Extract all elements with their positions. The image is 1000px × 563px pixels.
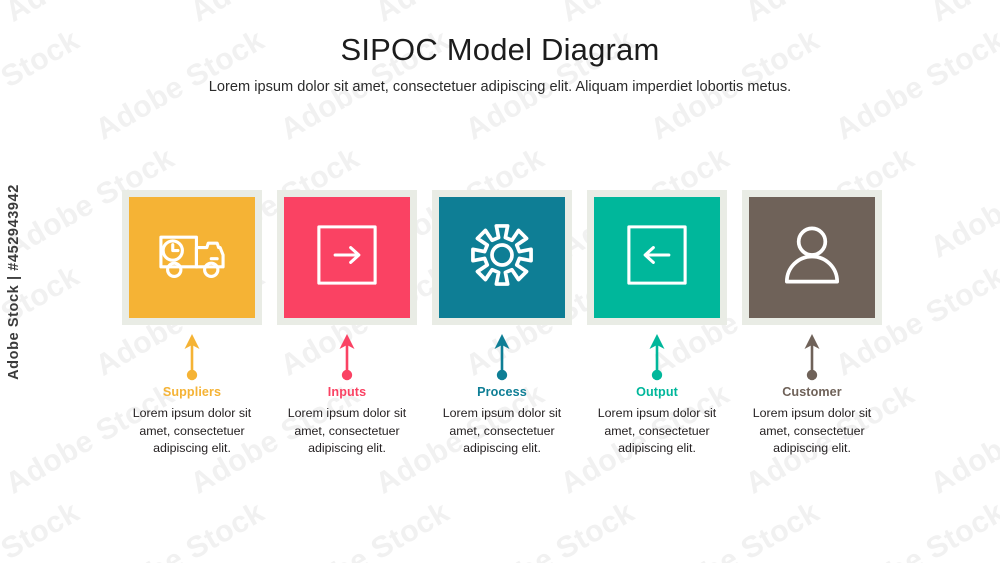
step-card-frame[interactable] <box>122 190 262 325</box>
diagram-canvas: Adobe Stock | #452943942 SIPOC Model Dia… <box>0 0 1000 563</box>
step-label: Process <box>477 385 527 400</box>
step-connector-arrow-up-icon <box>335 334 359 382</box>
step-label: Output <box>636 385 678 400</box>
step-connector-arrow-up-icon <box>180 334 204 382</box>
sipoc-steps-row: SuppliersLorem ipsum dolor sit amet, con… <box>122 190 882 458</box>
step-card-fill <box>439 197 565 318</box>
step-card-frame[interactable] <box>742 190 882 325</box>
page-title: SIPOC Model Diagram <box>0 32 1000 68</box>
step-card-fill <box>594 197 720 318</box>
step-card-frame[interactable] <box>432 190 572 325</box>
gear-icon <box>465 218 539 297</box>
sipoc-step-inputs[interactable]: InputsLorem ipsum dolor sit amet, consec… <box>277 190 417 458</box>
step-card-fill <box>749 197 875 318</box>
step-label: Customer <box>782 385 842 400</box>
page-subtitle: Lorem ipsum dolor sit amet, consectetuer… <box>175 77 825 98</box>
step-card-fill <box>129 197 255 318</box>
sipoc-step-process[interactable]: ProcessLorem ipsum dolor sit amet, conse… <box>432 190 572 458</box>
step-connector-arrow-up-icon <box>645 334 669 382</box>
step-card-fill <box>284 197 410 318</box>
delivery-truck-clock-icon <box>155 218 229 297</box>
sipoc-step-output[interactable]: OutputLorem ipsum dolor sit amet, consec… <box>587 190 727 458</box>
adobe-stock-watermark-label: Adobe Stock | #452943942 <box>6 184 22 380</box>
step-card-frame[interactable] <box>587 190 727 325</box>
arrow-right-in-square-icon <box>310 218 384 297</box>
user-person-icon <box>775 218 849 297</box>
sipoc-step-customer[interactable]: CustomerLorem ipsum dolor sit amet, cons… <box>742 190 882 458</box>
step-description: Lorem ipsum dolor sit amet, consectetuer… <box>586 405 728 458</box>
sipoc-step-suppliers[interactable]: SuppliersLorem ipsum dolor sit amet, con… <box>122 190 262 458</box>
step-connector-arrow-up-icon <box>800 334 824 382</box>
arrow-left-in-square-icon <box>620 218 694 297</box>
step-label: Suppliers <box>163 385 221 400</box>
step-description: Lorem ipsum dolor sit amet, consectetuer… <box>431 405 573 458</box>
step-description: Lorem ipsum dolor sit amet, consectetuer… <box>741 405 883 458</box>
step-description: Lorem ipsum dolor sit amet, consectetuer… <box>276 405 418 458</box>
step-connector-arrow-up-icon <box>490 334 514 382</box>
step-label: Inputs <box>328 385 366 400</box>
step-description: Lorem ipsum dolor sit amet, consectetuer… <box>121 405 263 458</box>
step-card-frame[interactable] <box>277 190 417 325</box>
header: SIPOC Model Diagram Lorem ipsum dolor si… <box>0 32 1000 97</box>
